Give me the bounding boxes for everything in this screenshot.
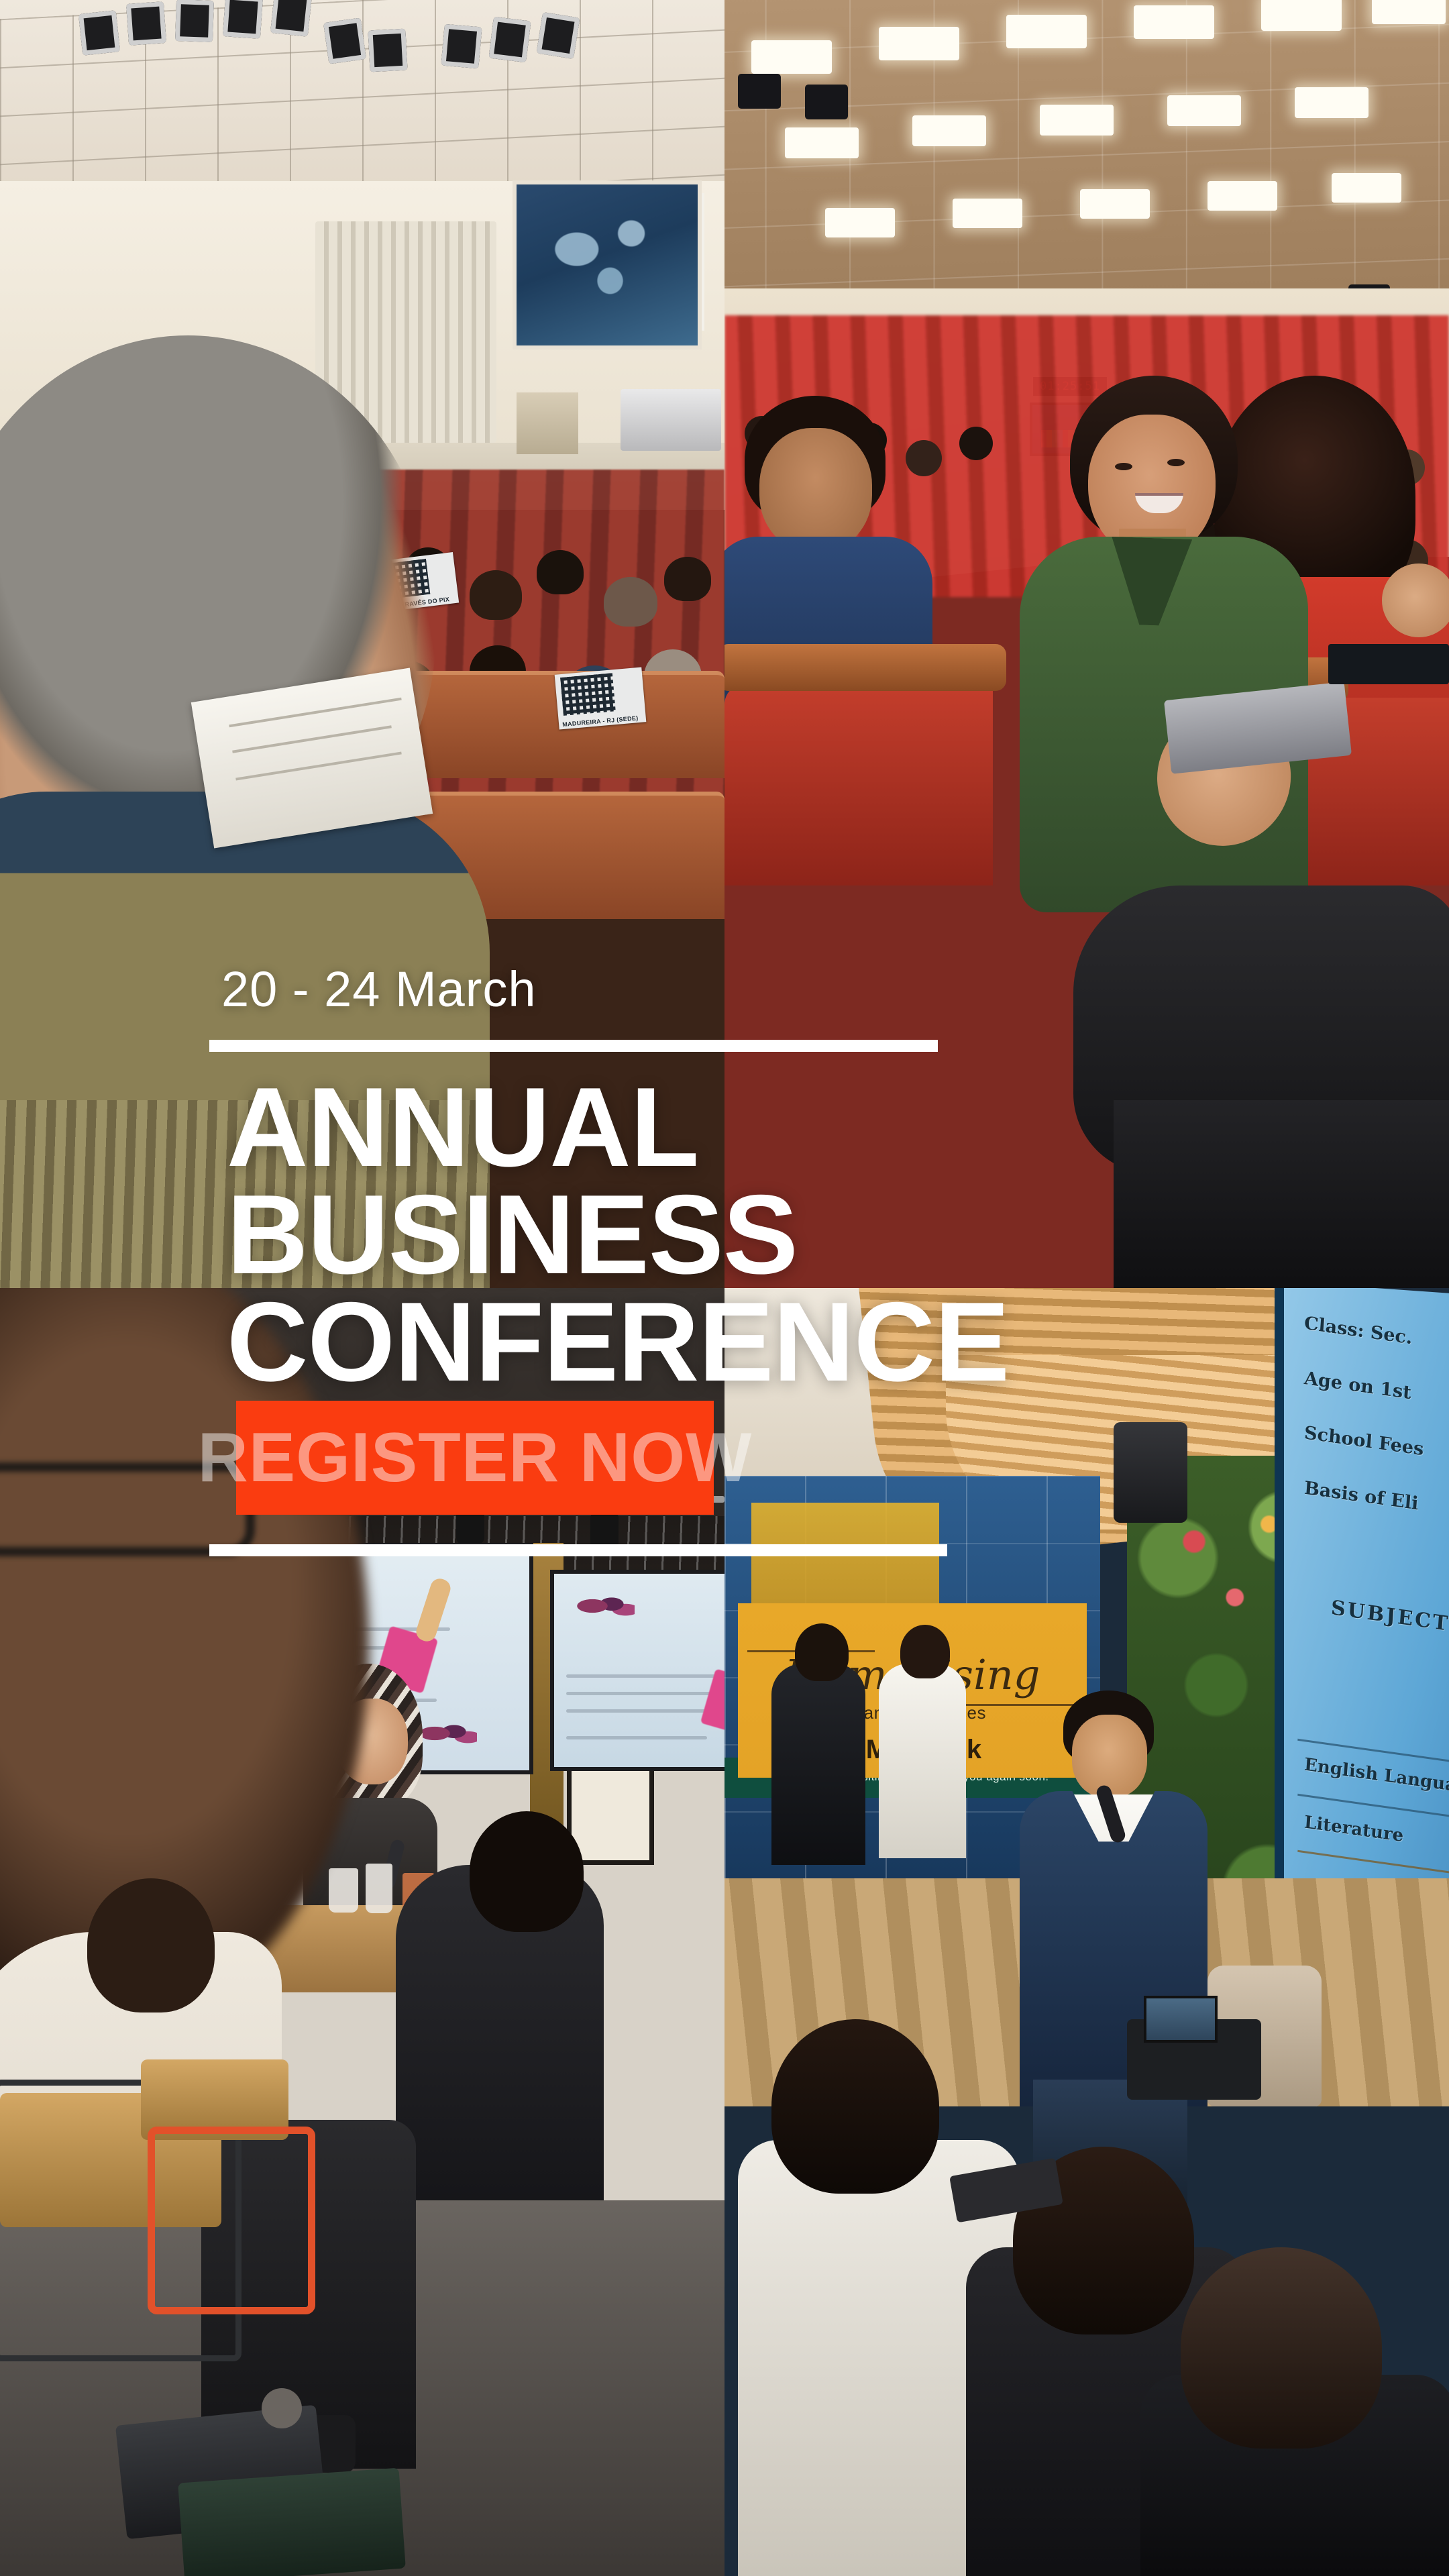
foreground-man-sweater: [0, 792, 490, 1288]
standing-attendee: [771, 1664, 865, 1865]
tablet-device: [1144, 1996, 1218, 2043]
register-now-label: REGISTER NOW: [198, 1418, 753, 1498]
clapping-woman-foreground: [939, 376, 1395, 1288]
stage-light-truss: [80, 0, 563, 87]
attendee-head: [87, 1878, 215, 2012]
screen-heading: SUBJECT: [1330, 1596, 1449, 1636]
standing-attendee-white-shirt: [879, 1664, 966, 1858]
register-now-button[interactable]: REGISTER NOW: [236, 1401, 714, 1515]
screen-line: School Fees: [1303, 1422, 1424, 1460]
photo-top-left-auditorium: DOE ATRAVÉS DO PIX MADUREIRA - RJ (SEDE)…: [0, 0, 724, 1288]
attendee-head: [795, 1623, 849, 1681]
lectern: [517, 392, 578, 454]
cable-coil: [262, 2388, 302, 2428]
dark-folder: [1328, 644, 1449, 684]
attendee-head: [470, 1811, 584, 1932]
eye: [1115, 463, 1132, 470]
photo-top-right-clapping-woman: 01:25:51: [724, 0, 1449, 1288]
slide-fork-graphic: [414, 1576, 453, 1644]
seat-qr-badge: MADUREIRA - RJ (SEDE): [555, 667, 647, 729]
face: [759, 428, 872, 552]
attendee-head: [900, 1625, 950, 1678]
drink-cup: [366, 1864, 392, 1913]
drink-cup: [329, 1868, 358, 1913]
dark-trousers: [1114, 1100, 1449, 1288]
event-poster: DOE ATRAVÉS DO PIX MADUREIRA - RJ (SEDE)…: [0, 0, 1449, 2576]
face: [1072, 1715, 1147, 1798]
orange-chair-frame: [148, 2127, 315, 2314]
presentation-screen-right: [550, 1570, 724, 1771]
photo-collage-grid: DOE ATRAVÉS DO PIX MADUREIRA - RJ (SEDE)…: [0, 0, 1449, 2576]
eye: [1167, 459, 1185, 466]
foreground-attendee-head: [771, 2019, 939, 2194]
ceiling-spotlight: [738, 74, 781, 109]
presenting-man-with-microphone: [993, 1690, 1221, 2173]
foreground-attendee-head: [1181, 2247, 1382, 2449]
photo-bottom-right-corporate-talk: Thank you for visiting EXIT See you agai…: [724, 1288, 1449, 2576]
screen-table-rule: [1297, 1850, 1449, 1879]
screen-line: Basis of Eli: [1303, 1478, 1419, 1515]
screen-line: English Language: [1303, 1755, 1449, 1799]
screen-line: Class: Sec.: [1303, 1313, 1413, 1348]
world-map-banner: [517, 184, 698, 345]
track-spotlight: [590, 1513, 619, 1550]
screen-line: Age on 1st: [1303, 1368, 1412, 1403]
projector-equipment: [621, 389, 721, 451]
wall-speaker: [1114, 1422, 1187, 1523]
screen-line: Literature: [1303, 1813, 1404, 1846]
slide-diamond-graphic: [700, 1668, 724, 1736]
notebook: [178, 2468, 406, 2576]
decorative-flourish: [574, 1587, 635, 1625]
ceiling-spotlight: [805, 85, 848, 119]
